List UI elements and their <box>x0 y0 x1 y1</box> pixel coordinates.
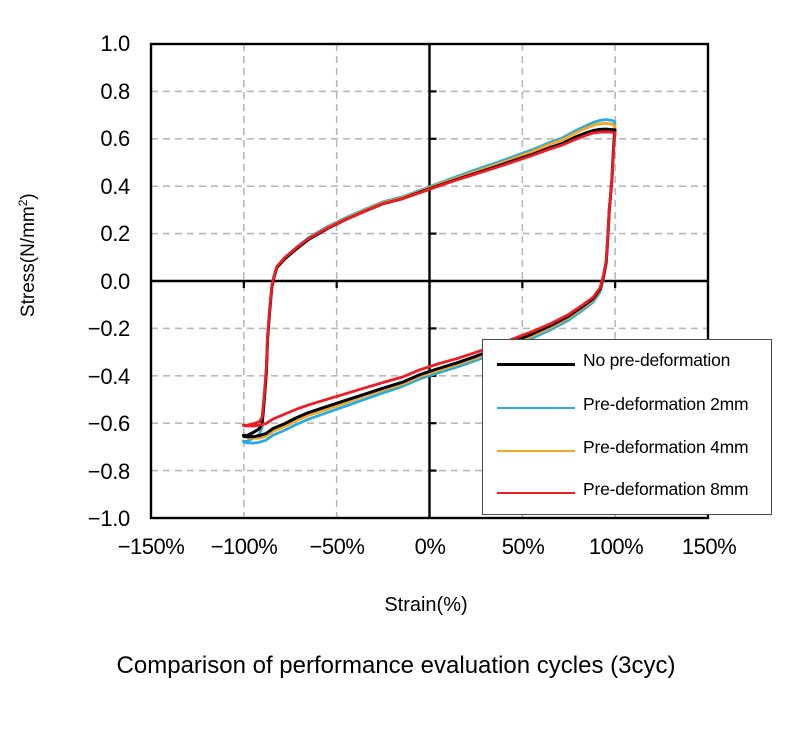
legend-label: Pre-deformation 8mm <box>583 479 748 500</box>
legend-row: Pre-deformation 4mm <box>483 429 773 473</box>
y-tick-label: 0.6 <box>46 126 130 152</box>
legend-label: No pre-deformation <box>583 350 730 371</box>
y-tick-label: 0.8 <box>46 79 130 105</box>
y-tick-label: −0.4 <box>46 364 130 390</box>
legend-row: Pre-deformation 2mm <box>483 386 773 430</box>
y-tick-label: −0.8 <box>46 459 130 485</box>
legend-swatch-line <box>497 450 575 452</box>
y-tick-label: −0.2 <box>46 316 130 342</box>
legend-swatch-line <box>497 407 575 409</box>
y-tick-label: 1.0 <box>46 31 130 57</box>
legend-label: Pre-deformation 2mm <box>583 394 748 415</box>
chart-figure: Stress(N/mm2) 1.0 0.8 0.6 0.4 0.2 0.0 −0… <box>0 0 792 736</box>
legend-label: Pre-deformation 4mm <box>583 437 748 458</box>
legend-row: No pre-deformation <box>483 342 773 386</box>
legend-swatch-line <box>497 492 575 494</box>
y-tick-label: 0.2 <box>46 221 130 247</box>
y-tick-label: 0.4 <box>46 174 130 200</box>
y-tick-label: 0.0 <box>46 269 130 295</box>
x-tick-label: 150% <box>649 534 769 560</box>
figure-caption: Comparison of performance evaluation cyc… <box>0 652 792 680</box>
y-tick-label: −1.0 <box>46 506 130 532</box>
y-tick-label: −0.6 <box>46 411 130 437</box>
x-axis-title: Strain(%) <box>336 594 516 617</box>
legend-row: Pre-deformation 8mm <box>483 471 773 515</box>
chart-legend: No pre-deformation Pre-deformation 2mm P… <box>482 339 772 515</box>
legend-swatch-line <box>497 363 575 366</box>
